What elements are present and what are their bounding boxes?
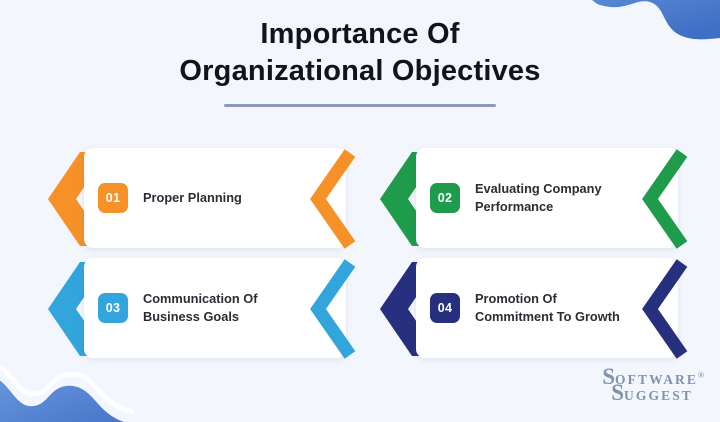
title-underline-rule (224, 104, 496, 107)
card-label: Communication Of Business Goals (143, 290, 257, 326)
card-number-badge: 01 (98, 183, 128, 213)
chevron-right-outline-icon (302, 148, 362, 250)
cards-grid: 01 Proper Planning 02 (0, 148, 720, 378)
card-label-line-2: Business Goals (143, 308, 257, 326)
card-label: Evaluating Company Performance (475, 180, 602, 216)
card-number-badge: 03 (98, 293, 128, 323)
logo-line-2: Suggest (611, 381, 704, 404)
softwaresuggest-logo: Software® Suggest (602, 365, 704, 404)
card-item[interactable]: 03 Communication Of Business Goals (46, 258, 356, 358)
infographic-slide: Importance Of Organizational Objectives … (0, 0, 720, 422)
card-item[interactable]: 04 Promotion Of Commitment To Growth (378, 258, 688, 358)
card-item[interactable]: 02 Evaluating Company Performance (378, 148, 688, 248)
card-label: Proper Planning (143, 189, 242, 207)
registered-trademark-icon: ® (698, 371, 704, 380)
card-label-line-1: Promotion Of (475, 290, 620, 308)
page-header: Importance Of Organizational Objectives (0, 16, 720, 107)
chevron-right-outline-icon (634, 258, 694, 360)
card-label-line-1: Communication Of (143, 290, 257, 308)
logo-initial-s2: S (611, 380, 624, 405)
card-label-line-2: Performance (475, 198, 602, 216)
card-number-badge: 04 (430, 293, 460, 323)
title-line-1: Importance Of (0, 16, 720, 53)
card-label-line-1: Evaluating Company (475, 180, 602, 198)
card-label-line-2: Commitment To Growth (475, 308, 620, 326)
card-label-line-1: Proper Planning (143, 189, 242, 207)
title-line-2: Organizational Objectives (0, 53, 720, 90)
card-item[interactable]: 01 Proper Planning (46, 148, 356, 248)
logo-word-suggest: uggest (624, 388, 693, 403)
card-label: Promotion Of Commitment To Growth (475, 290, 620, 326)
chevron-right-outline-icon (634, 148, 694, 250)
page-title: Importance Of Organizational Objectives (0, 16, 720, 90)
chevron-right-outline-icon (302, 258, 362, 360)
card-number-badge: 02 (430, 183, 460, 213)
